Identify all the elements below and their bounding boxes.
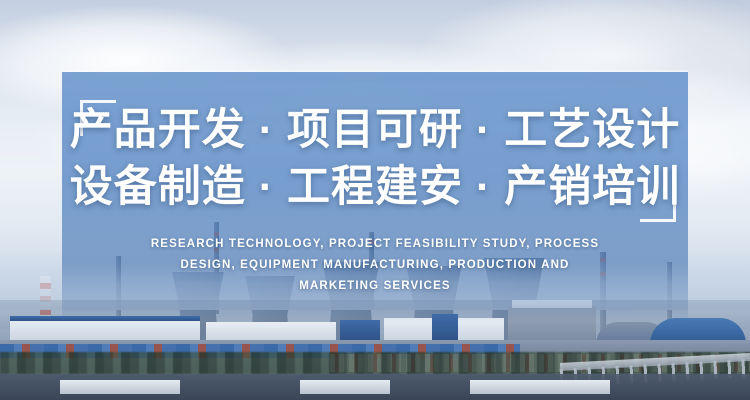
headline-line-1: 产品开发 · 项目可研 · 工艺设计 xyxy=(62,102,688,159)
headline-line-2: 设备制造 · 工程建安 · 产销培训 xyxy=(62,159,688,216)
foreground-building xyxy=(300,380,390,394)
subtitle-block: RESEARCH TECHNOLOGY, PROJECT FEASIBILITY… xyxy=(130,234,620,297)
factory-building xyxy=(340,320,380,340)
factory-building xyxy=(206,322,336,340)
headline-block: 产品开发 · 项目可研 · 工艺设计 设备制造 · 工程建安 · 产销培训 xyxy=(62,102,688,216)
promotional-banner: 产品开发 · 项目可研 · 工艺设计 设备制造 · 工程建安 · 产销培训 RE… xyxy=(0,0,750,400)
foreground-building xyxy=(470,380,610,394)
subtitle-line-3: MARKETING SERVICES xyxy=(130,276,620,297)
subtitle-line-1: RESEARCH TECHNOLOGY, PROJECT FEASIBILITY… xyxy=(130,234,620,255)
foreground-building xyxy=(60,380,180,394)
subtitle-line-2: DESIGN, EQUIPMENT MANUFACTURING, PRODUCT… xyxy=(130,255,620,276)
